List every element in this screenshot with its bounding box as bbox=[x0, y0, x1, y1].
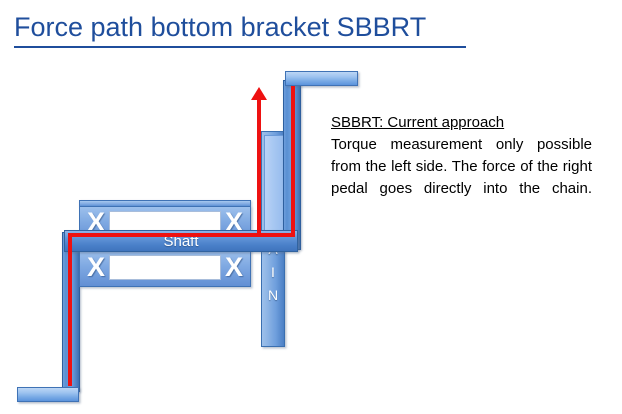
chain-letter: N bbox=[262, 284, 284, 307]
bearing-x-mark: X bbox=[219, 252, 249, 282]
lower-bearing-window bbox=[109, 255, 221, 280]
force-path-left-vertical bbox=[68, 236, 72, 386]
chain-letter: I bbox=[262, 261, 284, 284]
page-title: Force path bottom bracket SBBRT bbox=[14, 12, 426, 43]
diagram-canvas: Force path bottom bracket SBBRT SBBRT: C… bbox=[0, 0, 622, 414]
right-pedal-bar bbox=[285, 71, 358, 86]
description-heading: SBBRT: Current approach bbox=[331, 113, 592, 133]
lower-bearing-assembly: X X bbox=[79, 249, 251, 291]
description-body: Torque measurement only possible from th… bbox=[331, 134, 592, 222]
description-block: SBBRT: Current approach Torque measureme… bbox=[331, 113, 592, 222]
force-path-arrowhead-icon bbox=[251, 87, 267, 100]
title-underline bbox=[14, 46, 466, 48]
left-pedal-bar bbox=[17, 387, 79, 402]
force-path-chain-vertical bbox=[257, 99, 261, 237]
force-path-right-vertical bbox=[291, 86, 295, 237]
force-path-chain-horizontal bbox=[165, 233, 261, 237]
bearing-x-mark: X bbox=[81, 252, 111, 282]
sprocket-inner-bar bbox=[264, 135, 284, 245]
